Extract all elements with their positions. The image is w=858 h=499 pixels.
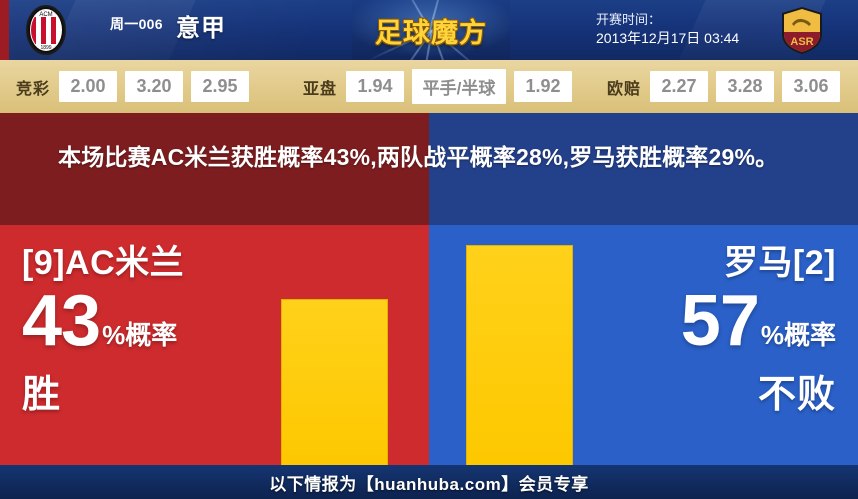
odds-group-label: 欧赔 — [607, 75, 641, 99]
home-team-info: [9]AC米兰 43 %概率 胜 — [22, 243, 272, 418]
odds-cell-away[interactable]: 3.06 — [782, 71, 840, 102]
home-outcome-label: 胜 — [22, 363, 272, 418]
odds-group-jingcai: 竞彩 2.00 3.20 2.95 — [16, 71, 257, 102]
odds-group-label: 竞彩 — [16, 75, 50, 99]
odds-cell-draw[interactable]: 3.28 — [716, 71, 774, 102]
away-probability-value: 57 — [681, 285, 759, 357]
home-probability-value: 43 — [22, 285, 100, 357]
league-name: 意甲 — [176, 8, 226, 43]
probability-summary-text: 本场比赛AC米兰获胜概率43%,两队战平概率28%,罗马获胜概率29%。 — [58, 139, 800, 175]
odds-cell-home[interactable]: 1.94 — [346, 71, 404, 102]
brand-logo-container: 足球魔方 — [352, 0, 510, 60]
away-team-info: 罗马[2] 57 %概率 不败 — [600, 243, 836, 418]
kickoff-label: 开赛时间： — [596, 10, 739, 29]
header-left-accent — [0, 0, 9, 60]
away-probability-unit: %概率 — [761, 322, 836, 357]
kickoff-value: 2013年12月17日 03:44 — [596, 29, 739, 48]
home-probability-bar — [281, 299, 388, 467]
ac-milan-crest-icon: ACM 1899 — [20, 4, 72, 56]
odds-cell-away[interactable]: 2.95 — [191, 71, 249, 102]
home-probability-unit: %概率 — [102, 322, 177, 357]
brand-logo-text: 足球魔方 — [352, 0, 510, 60]
odds-group-asian-handicap: 亚盘 1.94 平手/半球 1.92 — [303, 69, 580, 104]
odds-group-label: 亚盘 — [303, 75, 337, 99]
away-probability-bar — [466, 245, 573, 467]
away-probability-row: 57 %概率 — [600, 285, 836, 357]
member-notice-footer: 以下情报为【huanhuba.com】会员专享 — [0, 465, 858, 499]
kickoff-time-block: 开赛时间： 2013年12月17日 03:44 — [596, 10, 739, 48]
odds-group-european: 欧赔 2.27 3.28 3.06 — [607, 71, 848, 102]
home-probability-row: 43 %概率 — [22, 285, 272, 357]
odds-bar: 竞彩 2.00 3.20 2.95 亚盘 1.94 平手/半球 1.92 欧赔 … — [0, 60, 858, 113]
svg-text:ASR: ASR — [790, 36, 813, 48]
odds-cell-away[interactable]: 1.92 — [514, 71, 572, 102]
away-outcome-label: 不败 — [600, 363, 836, 418]
as-roma-crest-icon: ASR — [776, 4, 828, 56]
probability-summary-banner: 本场比赛AC米兰获胜概率43%,两队战平概率28%,罗马获胜概率29%。 — [0, 113, 858, 225]
home-team-name: [9]AC米兰 — [22, 243, 272, 283]
odds-cell-home[interactable]: 2.27 — [650, 71, 708, 102]
page-header: ACM 1899 周一006 意甲 足球魔方 开赛时间： 2013年12月17日… — [0, 0, 858, 60]
odds-cell-draw[interactable]: 3.20 — [125, 71, 183, 102]
member-notice-text: 以下情报为【huanhuba.com】会员专享 — [269, 470, 588, 495]
match-prediction-page: ACM 1899 周一006 意甲 足球魔方 开赛时间： 2013年12月17日… — [0, 0, 858, 499]
away-team-name: 罗马[2] — [600, 243, 836, 283]
odds-cell-home[interactable]: 2.00 — [59, 71, 117, 102]
svg-text:ACM: ACM — [39, 12, 52, 18]
odds-cell-handicap[interactable]: 平手/半球 — [412, 69, 506, 104]
probability-comparison: [9]AC米兰 43 %概率 胜 罗马[2] 57 %概率 不败 — [0, 225, 858, 465]
match-number: 周一006 — [110, 14, 163, 34]
